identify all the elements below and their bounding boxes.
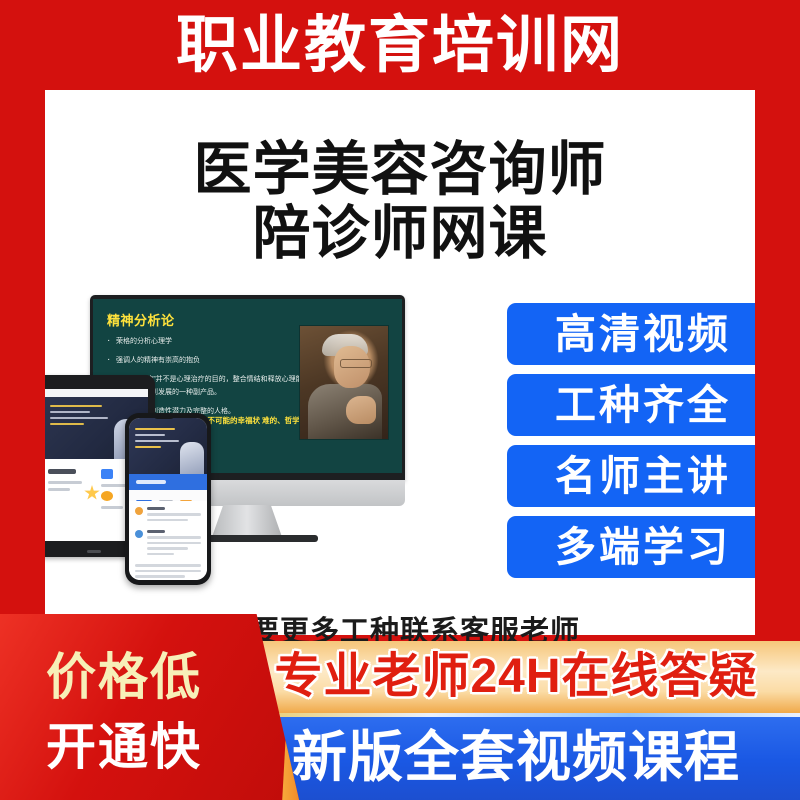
feature-badge-expert-teachers[interactable]: 名师主讲 bbox=[507, 445, 755, 507]
phone-video-player bbox=[129, 418, 207, 474]
tablet-card-line bbox=[101, 506, 123, 509]
tablet-video-caption-lines bbox=[50, 405, 120, 429]
tablet-card-line bbox=[48, 481, 82, 484]
list-item bbox=[135, 507, 201, 524]
list-item bbox=[135, 564, 201, 580]
tablet-card bbox=[45, 461, 95, 541]
site-title: 职业教育培训网 bbox=[176, 15, 624, 77]
feature-badge-label: 高清视频 bbox=[555, 314, 731, 355]
promo-poster: 职业教育培训网 医学美容咨询师 陪诊师网课 精神分析论 荣格的分析心理学 强调人… bbox=[0, 0, 800, 800]
blue-promo-band: 新版全套视频课程 bbox=[232, 713, 800, 800]
ribbon-line-1: 价格低 bbox=[0, 652, 258, 702]
feature-badge-list: 高清视频 工种齐全 名师主讲 多端学习 bbox=[507, 303, 755, 587]
slide-bullet: 荣格的分析心理学 bbox=[107, 335, 322, 348]
blue-band-text: 新版全套视频课程 bbox=[232, 719, 800, 795]
orange-promo-band: 专业老师24H在线答疑 bbox=[232, 641, 800, 713]
tablet-card-heading bbox=[48, 469, 76, 474]
tablet-card-line bbox=[48, 488, 70, 491]
page-title: 医学美容咨询师 陪诊师网课 bbox=[45, 138, 755, 266]
feature-badge-full-categories[interactable]: 工种齐全 bbox=[507, 374, 755, 436]
mail-icon bbox=[101, 469, 113, 479]
glasses-icon bbox=[340, 359, 372, 368]
avatar bbox=[135, 507, 143, 515]
portrait-hands bbox=[346, 396, 376, 424]
phone-notch bbox=[152, 413, 176, 419]
feature-badge-multi-device[interactable]: 多端学习 bbox=[507, 516, 755, 578]
monitor-stand-neck bbox=[212, 505, 282, 537]
price-ribbon: 价格低 开通快 bbox=[0, 614, 300, 800]
phone-video-presenter bbox=[180, 442, 204, 474]
list-item bbox=[135, 530, 201, 558]
portrait-photo bbox=[299, 325, 389, 440]
feature-badge-label: 多端学习 bbox=[555, 527, 731, 568]
orange-band-text: 专业老师24H在线答疑 bbox=[232, 645, 800, 709]
slide-title: 精神分析论 bbox=[107, 310, 175, 329]
badge-icon bbox=[101, 491, 113, 501]
tablet-status-bar bbox=[45, 389, 148, 397]
header-bar: 职业教育培训网 bbox=[0, 0, 800, 92]
ribbon-line-2: 开通快 bbox=[0, 722, 258, 772]
feature-badge-label: 名师主讲 bbox=[555, 456, 731, 497]
slide-bullet: 强调人的精神有崇高的抱负 bbox=[107, 354, 322, 367]
phone-screen bbox=[129, 418, 207, 580]
avatar bbox=[135, 530, 143, 538]
page-title-line-1: 医学美容咨询师 bbox=[45, 138, 755, 202]
feature-badge-hd-video[interactable]: 高清视频 bbox=[507, 303, 755, 365]
feature-badge-label: 工种齐全 bbox=[555, 385, 731, 426]
device-mockup-group: 精神分析论 荣格的分析心理学 强调人的精神有崇高的抱负 “神经官能症”并不是心理… bbox=[45, 295, 445, 625]
phone-video-caption-lines bbox=[135, 428, 179, 452]
phone-content-list bbox=[129, 501, 207, 580]
page-title-line-2: 陪诊师网课 bbox=[45, 202, 755, 266]
tablet-home-indicator bbox=[87, 550, 101, 553]
content-card: 医学美容咨询师 陪诊师网课 精神分析论 荣格的分析心理学 强调人的精神有崇高的抱… bbox=[45, 90, 755, 635]
phone-primary-button[interactable] bbox=[129, 474, 207, 490]
phone-mockup bbox=[125, 413, 211, 585]
